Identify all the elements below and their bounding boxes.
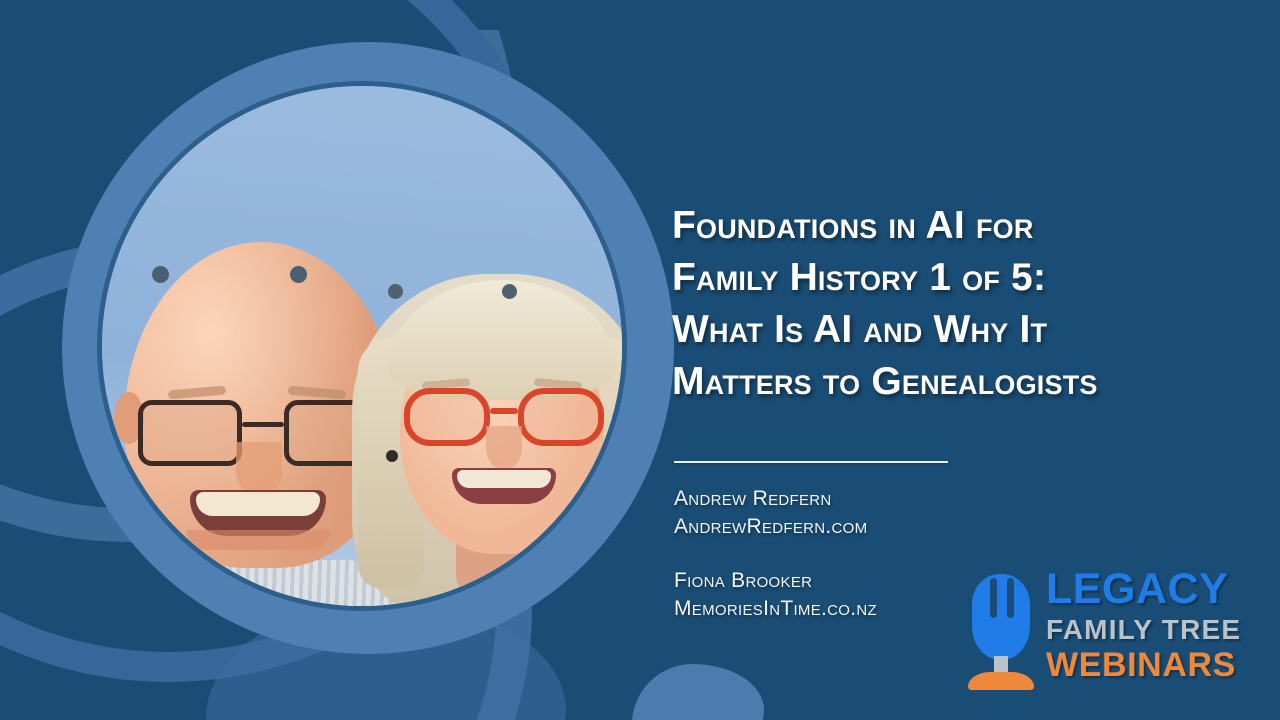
presenter-list: Andrew Redfern AndrewRedfern.com Fiona B…: [674, 485, 877, 649]
presenter-item: Andrew Redfern AndrewRedfern.com: [674, 485, 877, 541]
logo-line-webinars: WEBINARS: [1046, 648, 1258, 682]
presenter-website[interactable]: MemoriesInTime.co.nz: [674, 595, 877, 623]
presenters-portrait-photo: [102, 86, 622, 606]
title-line-1: Foundations in AI for: [672, 200, 1232, 252]
title-line-4: Matters to Genealogists: [672, 356, 1232, 408]
presenter-name: Andrew Redfern: [674, 485, 877, 513]
logo-line-legacy: LEGACY: [1046, 568, 1258, 611]
title-line-2: Family History 1 of 5:: [672, 252, 1232, 304]
portrait-person-right: [352, 264, 622, 606]
title-line-3: What Is AI and Why It: [672, 304, 1232, 356]
presenter-item: Fiona Brooker MemoriesInTime.co.nz: [674, 567, 877, 623]
logo-line-family-tree: FAMILY TREE: [1046, 616, 1258, 644]
logo-wordmark: LEGACY FAMILY TREE WEBINARS: [1046, 568, 1258, 682]
presenter-website[interactable]: AndrewRedfern.com: [674, 513, 877, 541]
title-divider: [674, 461, 948, 463]
page-title: Foundations in AI for Family History 1 o…: [672, 200, 1232, 408]
microphone-tree-icon: [966, 572, 1038, 688]
presenter-name: Fiona Brooker: [674, 567, 877, 595]
webinar-title-slide: Foundations in AI for Family History 1 o…: [0, 0, 1280, 720]
legacy-family-tree-webinars-logo[interactable]: LEGACY FAMILY TREE WEBINARS: [966, 568, 1256, 692]
